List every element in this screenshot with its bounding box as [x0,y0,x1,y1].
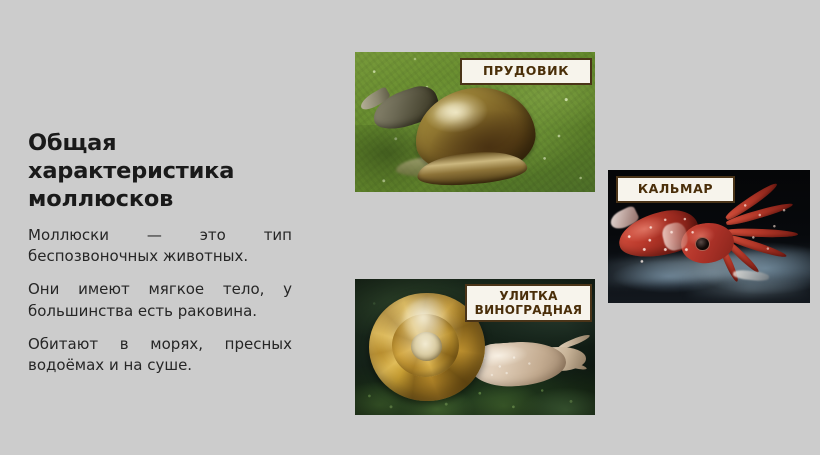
page-title: Общая характеристика моллюсков [28,130,292,214]
body-paragraph-3: Обитают в морях, пресных водоёмах и на с… [28,334,292,377]
text-content-block: Общая характеристика моллюсков Моллюски … [28,130,292,376]
body-paragraph-2: Они имеют мягкое тело, у большинства ест… [28,279,292,322]
caption-line-2: ВИНОГРАДНАЯ [475,303,583,317]
image-squid: КАЛЬМАР [608,170,810,303]
squid-eye [695,237,710,252]
caption-label-grape-snail: УЛИТКАВИНОГРАДНАЯ [465,284,592,322]
image-grape-snail: УЛИТКАВИНОГРАДНАЯ [355,279,595,415]
body-paragraph-1: Моллюски — это тип беспозвоночных животн… [28,225,292,268]
water-light-beam-secondary [689,279,810,296]
presentation-slide: Общая характеристика моллюсков Моллюски … [0,0,820,455]
caption-label-squid: КАЛЬМАР [616,176,735,203]
image-pond-snail: ПРУДОВИК [355,52,595,192]
caption-line-1: УЛИТКА [499,289,557,303]
caption-label-pond-snail: ПРУДОВИК [460,58,592,85]
